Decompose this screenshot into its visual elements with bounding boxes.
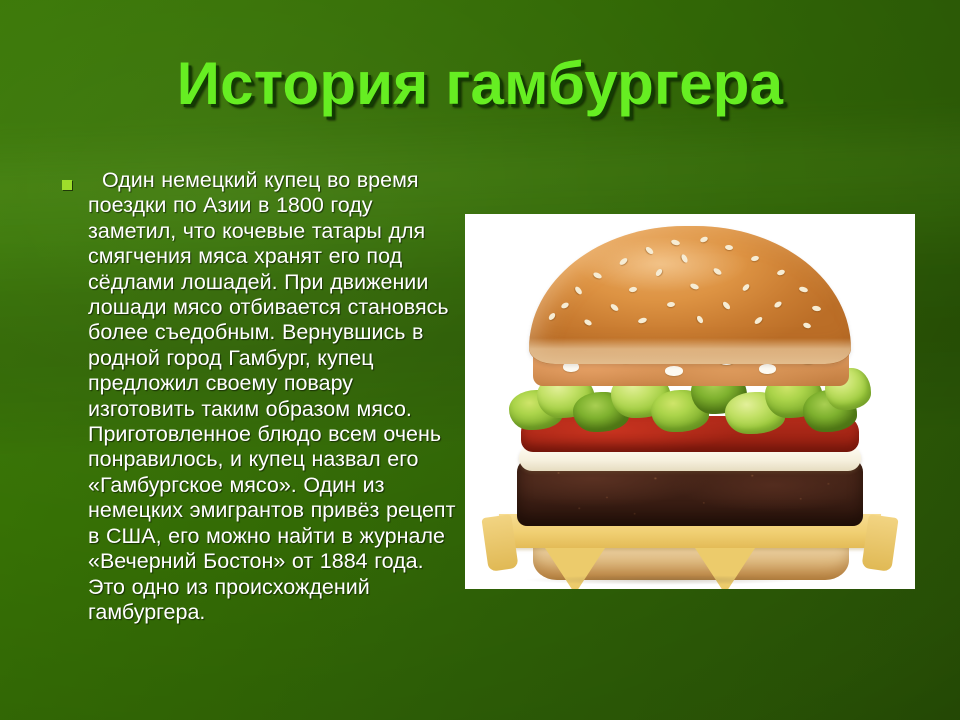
square-bullet-icon (62, 180, 72, 190)
sesame-seed (802, 321, 811, 328)
sesame-seed (722, 301, 732, 311)
sesame-seed (799, 286, 809, 293)
cheese-edge-right (861, 514, 898, 572)
body-paragraph: Один немецкий купец во время поездки по … (58, 168, 462, 625)
onion-piece (759, 364, 776, 374)
body-text-block: Один немецкий купец во время поездки по … (58, 168, 462, 625)
hamburger-illustration (493, 214, 887, 589)
bun-lower-edge (529, 338, 851, 364)
sesame-seed (812, 305, 822, 312)
cheese-edge-left (481, 514, 518, 572)
onion-piece (665, 366, 683, 376)
photo-ground-shadow (525, 575, 801, 585)
bun-top-sesame (529, 226, 851, 364)
sesame-seed (548, 312, 557, 321)
sesame-seed (754, 316, 764, 326)
sesame-seed (638, 317, 648, 325)
sesame-seed (667, 301, 675, 307)
slide-title: История гамбургера (0, 52, 960, 115)
sesame-seed (560, 302, 569, 310)
sesame-seed (583, 318, 592, 326)
sesame-seed (776, 269, 785, 276)
bun-highlight (574, 237, 748, 292)
sesame-seed (696, 315, 705, 324)
sesame-seed (773, 300, 782, 309)
sesame-seed (609, 302, 619, 311)
sesame-seed (751, 255, 760, 262)
presentation-slide: История гамбургера Один немецкий купец в… (0, 0, 960, 720)
sesame-seed (741, 283, 750, 292)
hamburger-photo (465, 214, 915, 589)
sesame-seed (628, 286, 637, 292)
sesame-seed (574, 286, 583, 296)
